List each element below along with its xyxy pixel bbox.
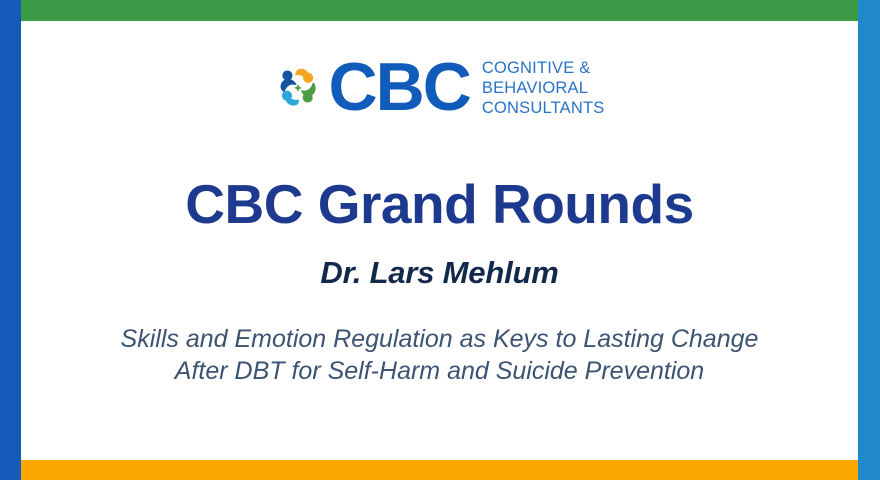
subtitle-line-1: Skills and Emotion Regulation as Keys to… (121, 323, 759, 355)
logo-tagline-line-3: CONSULTANTS (482, 98, 605, 118)
title-slide: CBC COGNITIVE & BEHAVIORAL CONSULTANTS C… (0, 0, 880, 480)
logo-tagline-line-1: COGNITIVE & (482, 58, 605, 78)
logo-tagline: COGNITIVE & BEHAVIORAL CONSULTANTS (482, 58, 605, 119)
speaker-name: Dr. Lars Mehlum (320, 256, 558, 290)
page-title: CBC Grand Rounds (185, 176, 693, 234)
four-people-circle-icon (275, 64, 321, 110)
presentation-subtitle: Skills and Emotion Regulation as Keys to… (121, 323, 759, 387)
accent-bar-top (21, 0, 858, 21)
subtitle-line-2: After DBT for Self-Harm and Suicide Prev… (121, 355, 759, 387)
logo-tagline-line-2: BEHAVIORAL (482, 78, 605, 98)
accent-bar-bottom (21, 460, 858, 480)
accent-bar-left (0, 0, 21, 480)
accent-bar-right (858, 0, 880, 480)
cbc-logo: CBC COGNITIVE & BEHAVIORAL CONSULTANTS (275, 54, 605, 120)
slide-content: CBC COGNITIVE & BEHAVIORAL CONSULTANTS C… (21, 21, 858, 460)
logo-wordmark: CBC (329, 56, 470, 119)
